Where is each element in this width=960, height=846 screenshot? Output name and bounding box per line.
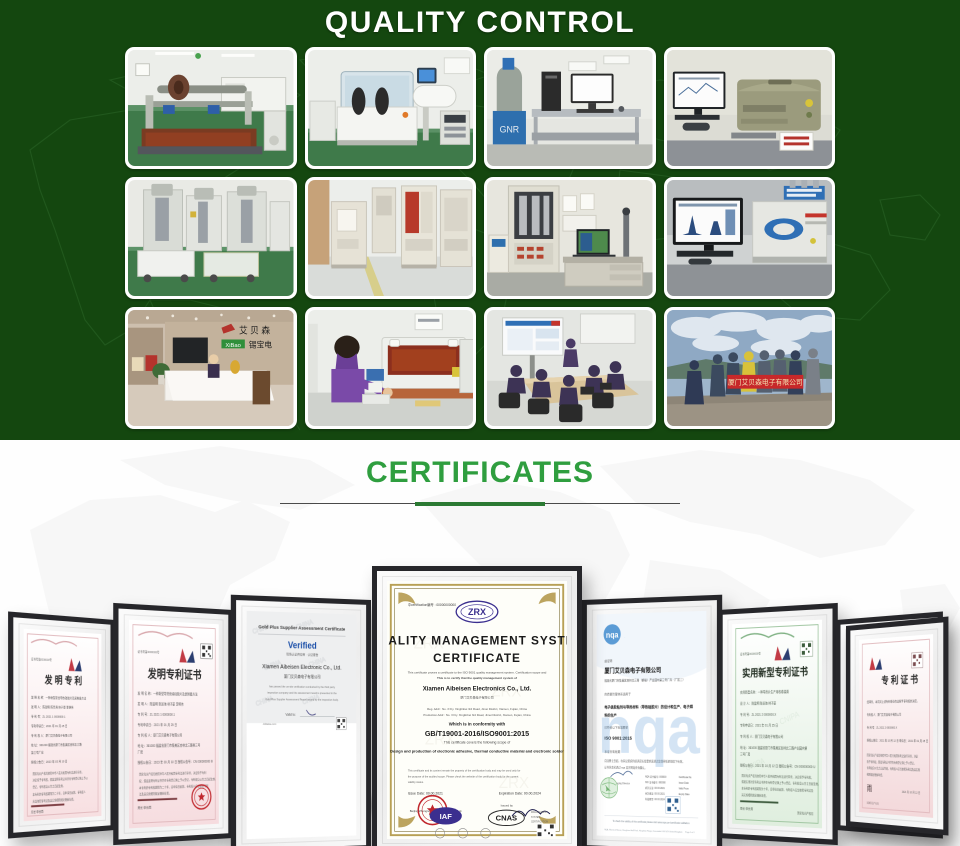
photo-lobby-reception[interactable]: 艾 贝 森 XiBao 锡宝电 — [125, 307, 297, 429]
certificate-paper-invention-patent-2: 证书号第0000000号 发明专利证书 发 明 名 称：一种新型导热绝缘硅胶片及… — [129, 620, 219, 829]
qr-code — [201, 644, 213, 659]
svg-text:Design and production of elect: Design and production of electronic adhe… — [390, 749, 564, 753]
photo-glovebox[interactable] — [305, 47, 477, 169]
underline-accent-segment — [415, 502, 545, 506]
svg-text:厦门艾贝森电子有限公司: 厦门艾贝森电子有限公司 — [284, 674, 321, 680]
quality-control-title: QUALITY CONTROL — [0, 0, 960, 39]
svg-text:锡宝电: 锡宝电 — [249, 339, 273, 349]
svg-text:专利申请日：2021 年 01 月 25 日: 专利申请日：2021 年 01 月 25 日 — [138, 721, 178, 727]
svg-text:专利权人：厦门艾贝森电子有限公司: 专利权人：厦门艾贝森电子有限公司 — [867, 712, 902, 717]
svg-text:Xiamen Aibeisen Electronics Co: Xiamen Aibeisen Electronics Co., Ltd. — [423, 686, 532, 693]
certificate-frame-patent-certificate[interactable]: 专 利 证 书 经审查，本局对上述专利申请作出授予专利权的决定。 专利权人：厦门… — [846, 616, 948, 835]
svg-text:实用新型专利证书: 实用新型专利证书 — [742, 665, 808, 679]
svg-text:地 址：361000 福建省厦门市集美区杏林北三路第三号: 地 址：361000 福建省厦门市集美区杏林北三路第三号 — [138, 742, 201, 748]
svg-text:QUALITY MANAGEMENT SYSTEM: QUALITY MANAGEMENT SYSTEM — [387, 633, 567, 647]
svg-text:发 明 人：陈建明 陈景海 林子豪 李明伟: 发 明 人：陈建明 陈景海 林子豪 李明伟 — [31, 704, 74, 709]
photo-mixer-tanks-image — [128, 180, 294, 296]
svg-text:GNR: GNR — [500, 125, 519, 135]
quality-control-photo-grid: GNR — [125, 47, 835, 429]
certificate-frame-nqa-iso[interactable]: nqa . 兹证明 厦门艾贝森电子有限公司 福建省厦门市集美区杏林北三路（邮编）… — [582, 595, 722, 846]
svg-text:Issued by: Issued by — [501, 803, 514, 807]
iaf-badge: IAF — [430, 807, 462, 824]
photo-coating-line[interactable] — [125, 47, 297, 169]
photo-gas-analyzer[interactable]: GNR — [484, 47, 656, 169]
svg-text:Valid From: Valid From — [679, 787, 689, 791]
svg-text:Issue Date: 00.00.2021: Issue Date: 00.00.2021 — [408, 792, 443, 796]
certificates-title-underline — [280, 500, 680, 507]
frame-mat: 专 利 证 书 经审查，本局对上述专利申请作出授予专利权的决定。 专利权人：厦门… — [850, 622, 943, 829]
certificate-frame-utility-model-patent[interactable]: CNIPA CNIPA CNIPA 证书号第0000000号 — [718, 603, 838, 845]
certificates-gallery: 证书号第0000000号 发 明 专 利 发 明 名 称：一种新型复合导热硅胶片… — [0, 530, 960, 846]
certificate-paper-gold-plus-supplier: CHINA CHINA CHINA CHINA CHINA CHINA Gold… — [247, 611, 357, 839]
photo-rohs-tester-image — [667, 50, 833, 166]
svg-text:专 利 证 书: 专 利 证 书 — [881, 673, 918, 687]
svg-text:雨: 雨 — [867, 785, 872, 794]
svg-text:Expiry Date: Expiry Date — [679, 793, 691, 797]
svg-text:Issue Date: Issue Date — [679, 781, 690, 785]
photo-ovens-corridor-image — [308, 180, 474, 296]
svg-text:SYSTEM: SYSTEM — [531, 817, 540, 819]
qr-code — [800, 641, 812, 657]
globe-icon — [601, 778, 618, 799]
certificate-paper-quality-management-system: ZRXZRXZRXZRX 中certification编号 : 00000000… — [387, 581, 567, 839]
qr-code — [912, 652, 923, 668]
photo-rohs-tester[interactable] — [664, 47, 836, 169]
qr-code — [666, 796, 680, 813]
svg-text:This certificate covers the fo: This certificate covers the following sc… — [444, 741, 510, 745]
svg-text:nqa: nqa — [606, 630, 619, 640]
photo-team-banner-image: 厦门艾贝森电子有限公司 — [667, 310, 833, 426]
svg-text:Page 1 of 1: Page 1 of 1 — [685, 832, 694, 835]
certificate-frame-quality-management-system[interactable]: ZRXZRXZRXZRX 中certification编号 : 00000000… — [372, 566, 582, 846]
svg-text:艾 贝 森: 艾 贝 森 — [239, 325, 270, 336]
certificate-frame-invention-patent-2[interactable]: 证书号第0000000号 发明专利证书 发 明 名 称：一种新型导热绝缘硅胶片及… — [113, 603, 233, 845]
photo-chromatograph-image — [667, 180, 833, 296]
svg-text:专 利 号：ZL 2021 2 0000000.X: 专 利 号：ZL 2021 2 0000000.X — [740, 712, 776, 717]
photo-coating-line-image — [128, 50, 294, 166]
svg-text:This is to certify that the qu: This is to certify that the quality mana… — [437, 676, 518, 680]
certificates-section: CERTIFICATES — [0, 440, 960, 846]
svg-text:局长 申长雨: 局长 申长雨 — [138, 805, 152, 810]
svg-text:第三号厂房: 第三号厂房 — [31, 750, 44, 755]
svg-text:This certificate proves a cert: This certificate proves a certificate to… — [408, 670, 547, 674]
svg-text:CERTIFICATION: CERTIFICATION — [531, 821, 548, 824]
svg-text:Valid to:: Valid to: — [286, 712, 296, 716]
photo-operator-machine-image — [308, 310, 474, 426]
svg-text:Expiration Date: 00.00.2024: Expiration Date: 00.00.2024 — [499, 792, 541, 796]
svg-text:中certification编号 : 00000000000: 中certification编号 : 00000000000 — [408, 602, 456, 607]
quality-control-section: QUALITY CONTROL — [0, 0, 960, 440]
svg-text:MANAGEMENT: MANAGEMENT — [531, 811, 548, 814]
frame-mat: nqa . 兹证明 厦门艾贝森电子有限公司 福建省厦门市集美区杏林北三路（邮编）… — [587, 600, 717, 846]
frame-mat: 证书号第0000000号 发 明 专 利 发 明 名 称：一种新型复合导热硅胶片… — [13, 617, 110, 832]
photo-meeting-room[interactable] — [484, 307, 656, 429]
photo-ovens-corridor[interactable] — [305, 177, 477, 299]
svg-text:nqa: nqa — [598, 692, 701, 769]
svg-text:实用新型名称：一种导热片生产用收卷装置: 实用新型名称：一种导热片生产用收卷装置 — [740, 689, 789, 694]
certificate-paper-nqa-iso: nqa . 兹证明 厦门艾贝森电子有限公司 福建省厦门市集美区杏林北三路（邮编）… — [597, 611, 707, 839]
svg-text:局长 申长雨: 局长 申长雨 — [740, 806, 753, 811]
svg-text:CERTIFICATE: CERTIFICATE — [433, 651, 521, 665]
svg-text:地 址：361000 福建省厦门市集美区杏林北三路产业园内: 地 址：361000 福建省厦门市集美区杏林北三路产业园内第 — [740, 745, 807, 750]
zrx-logo: ZRX — [456, 601, 498, 622]
svg-text:Xiamen Aibeisen Electronic Co.: Xiamen Aibeisen Electronic Co., Ltd. — [262, 664, 341, 672]
svg-text:专 利 号：ZL 2021 2 0000000.X: 专 利 号：ZL 2021 2 0000000.X — [867, 725, 897, 730]
photo-operator-machine[interactable] — [305, 307, 477, 429]
svg-text:专 利 权 人：厦门艾贝森电子有限公司: 专 利 权 人：厦门艾贝森电子有限公司 — [31, 733, 72, 738]
nqa-watermark: nqa — [598, 692, 701, 769]
svg-text:专利申请日：2021 年 01 月 25 日: 专利申请日：2021 年 01 月 25 日 — [31, 723, 67, 728]
photo-glovebox-image — [308, 50, 474, 166]
svg-text:GB/T19001-2016/ISO9001:2015: GB/T19001-2016/ISO9001:2015 — [425, 729, 529, 738]
svg-text:XiBao: XiBao — [225, 343, 241, 349]
svg-text:厦门艾贝森电子有限公司: 厦门艾贝森电子有限公司 — [460, 694, 493, 699]
svg-text:Gold Plus Supplier Assessment: Gold Plus Supplier Assessment Report iss… — [265, 697, 338, 702]
svg-text:兹证明: 兹证明 — [604, 658, 612, 664]
photo-gas-analyzer-image: GNR — [487, 50, 653, 166]
frame-mat: CHINA CHINA CHINA CHINA CHINA CHINA Gold… — [236, 600, 366, 846]
certificate-frame-invention-patent-1[interactable]: 证书号第0000000号 发 明 专 利 发 明 名 称：一种新型复合导热硅胶片… — [8, 611, 115, 838]
qr-code — [336, 718, 346, 730]
svg-text:专 利 号：ZL 2021 1 0000000.1: 专 利 号：ZL 2021 1 0000000.1 — [31, 714, 66, 719]
svg-text:IAF: IAF — [440, 812, 453, 821]
svg-text:validity status.: validity status. — [408, 780, 424, 784]
svg-text:厂房: 厂房 — [138, 749, 143, 755]
svg-text:CNAS: CNAS — [496, 814, 517, 823]
frame-mat: 证书号第0000000号 发明专利证书 发 明 名 称：一种新型导热绝缘硅胶片及… — [119, 609, 229, 840]
photo-mixer-tanks[interactable] — [125, 177, 297, 299]
svg-text:专 利 号：ZL 2021 1 0000000.1: 专 利 号：ZL 2021 1 0000000.1 — [138, 711, 176, 717]
photo-team-banner[interactable]: 厦门艾贝森电子有限公司 — [664, 307, 836, 429]
svg-text:the purpose of the audited sco: the purpose of the audited scope. Please… — [408, 774, 519, 778]
svg-text:Production Addr : No. 3 Fty. X: Production Addr : No. 3 Fty. Xinglinbei … — [423, 713, 531, 717]
svg-text:设 计 人：陈建明 陈景海 林子豪: 设 计 人：陈建明 陈景海 林子豪 — [740, 701, 776, 706]
svg-text:发 明 专 利: 发 明 专 利 — [44, 673, 82, 687]
certificate-paper-utility-model-patent: CNIPA CNIPA CNIPA 证书号第0000000号 — [732, 620, 822, 829]
svg-text:专利申请日：2021 年 01 月 25 日: 专利申请日：2021 年 01 月 25 日 — [740, 723, 778, 728]
frame-mat: ZRXZRXZRXZRX 中certification编号 : 00000000… — [377, 571, 577, 846]
svg-text:Reg. Addr : No. 3 Fty. Xinglin: Reg. Addr : No. 3 Fty. Xinglinbei 3rd Ro… — [427, 707, 527, 711]
photo-chromatograph[interactable] — [664, 177, 836, 299]
svg-text:发 明 人：陈建明 陈景海 林子豪 李明伟: 发 明 人：陈建明 陈景海 林子豪 李明伟 — [138, 700, 184, 706]
svg-text:三号厂房: 三号厂房 — [740, 752, 750, 757]
photo-lobby-reception-image: 艾 贝 森 XiBao 锡宝电 — [128, 310, 294, 426]
svg-text:地 址：361000 福建省厦门市集美区杏林北三路: 地 址：361000 福建省厦门市集美区杏林北三路 — [31, 742, 82, 747]
svg-text:ZRX: ZRX — [468, 607, 486, 617]
svg-text:Certificate No.: Certificate No. — [679, 776, 693, 780]
photo-tensile-tester[interactable] — [484, 177, 656, 299]
svg-text:厦门艾贝森电子有限公司: 厦门艾贝森电子有限公司 — [727, 378, 802, 387]
svg-text:Verified: Verified — [288, 639, 317, 651]
certificates-title: CERTIFICATES — [0, 440, 960, 490]
svg-text:Which is in conformity with: Which is in conformity with — [449, 721, 506, 726]
svg-text:现场认证供应商 · 认证报告: 现场认证供应商 · 认证报告 — [286, 651, 318, 657]
certificate-frame-gold-plus-supplier[interactable]: CHINA CHINA CHINA CHINA CHINA CHINA Gold… — [231, 595, 371, 846]
svg-text:专 利 权 人：厦门艾贝森电子有限公司: 专 利 权 人：厦门艾贝森电子有限公司 — [138, 732, 183, 738]
photo-meeting-room-image — [487, 310, 653, 426]
photo-tensile-tester-image — [487, 180, 653, 296]
certificate-paper-patent-certificate: 专 利 证 书 经审查，本局对上述专利申请作出授予专利权的决定。 专利权人：厦门… — [859, 634, 933, 818]
certificate-paper-invention-patent-1: 证书号第0000000号 发 明 专 利 发 明 名 称：一种新型复合导热硅胶片… — [24, 629, 102, 822]
svg-text:This certificate and its conte: This certificate and its content remain … — [408, 769, 521, 773]
svg-text:专 利 权 人：厦门艾贝森电子有限公司: 专 利 权 人：厦门艾贝森电子有限公司 — [740, 734, 783, 739]
qr-code — [537, 824, 556, 837]
frame-mat: CNIPA CNIPA CNIPA 证书号第0000000号 — [723, 609, 833, 840]
svg-text:Alibaba.com: Alibaba.com — [263, 722, 276, 726]
